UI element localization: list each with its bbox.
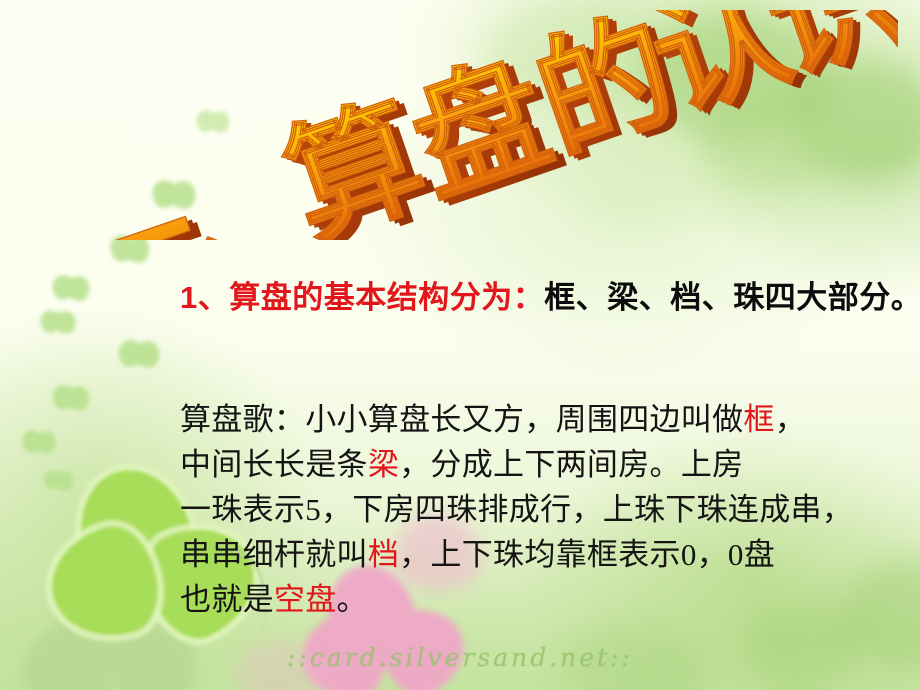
mini-leaf-icon: [52, 385, 90, 415]
mini-leaf-icon: [52, 275, 90, 305]
site-watermark: ::card.silversand.net::: [0, 643, 920, 672]
abacus-song-segment: 框: [743, 402, 774, 437]
background-blob-3: [700, 95, 830, 190]
abacus-song-segment: 空盘: [274, 582, 337, 617]
abacus-song-segment: 。: [337, 582, 368, 617]
abacus-song-segment: 梁: [368, 447, 399, 482]
mini-leaf-icon: [40, 310, 76, 338]
mini-leaf-icon: [196, 110, 230, 136]
abacus-song-text: 算盘歌：小小算盘长又方，周围四边叫做框， 中间长长是条梁，分成上下两间房。上房 …: [180, 398, 920, 623]
background-blob-4: [480, 0, 680, 110]
slide-canvas: 一 、 算 盘 的 认 识 一 、 算 盘 的 认 识 一 、 算: [0, 0, 920, 690]
mini-leaf-icon: [152, 180, 196, 214]
point-1-red-part: 1、算盘的基本结构分为：: [180, 280, 544, 315]
mini-leaf-icon: [118, 340, 160, 372]
mini-leaf-icon: [110, 235, 150, 267]
abacus-song-segment: 算盘歌：小小算盘长又方，周围四边叫做: [180, 402, 743, 437]
mini-leaf-icon: [22, 430, 56, 457]
point-1-black-part: 框、梁、档、珠四大部分。: [544, 280, 920, 315]
abacus-song-segment: 档: [368, 537, 399, 572]
point-1-text: 1、算盘的基本结构分为：框、梁、档、珠四大部分。: [180, 276, 920, 320]
point-1-block: 1、算盘的基本结构分为：框、梁、档、珠四大部分。: [180, 276, 920, 320]
